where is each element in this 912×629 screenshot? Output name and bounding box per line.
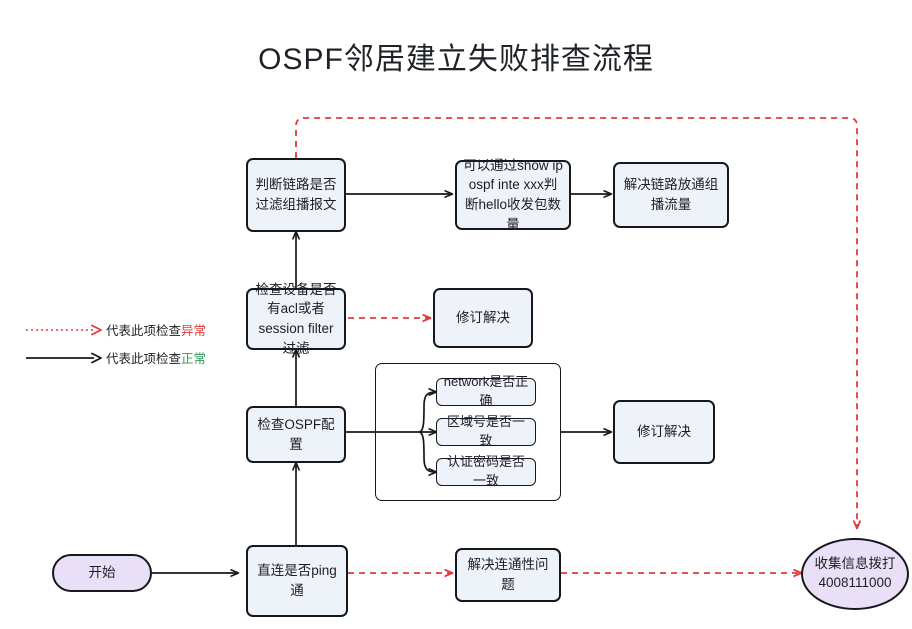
node-fix-config[interactable]: 修订解决 — [613, 400, 715, 464]
node-ospf-config[interactable]: 检查OSPF配置 — [246, 406, 346, 463]
legend-abnormal-arrow-icon — [26, 324, 104, 336]
page-title: OSPF邻居建立失败排查流程 — [0, 34, 912, 78]
legend-abnormal-label: 代表此项检查异常 — [106, 320, 206, 339]
node-network-correct[interactable]: network是否正确 — [436, 378, 536, 406]
collect-info-line-1: 收集信息拨打 — [815, 555, 896, 574]
node-multicast-filter[interactable]: 判断链路是否过滤组播报文 — [246, 158, 346, 232]
legend-abnormal: 代表此项检查异常 — [26, 320, 206, 339]
node-acl-check[interactable]: 检查设备是否有acl或者session filter过滤 — [246, 288, 346, 350]
node-ping[interactable]: 直连是否ping通 — [246, 545, 348, 617]
legend-normal: 代表此项检查正常 — [26, 348, 206, 367]
collect-info-line-2: 4008111000 — [818, 574, 891, 593]
legend-normal-label: 代表此项检查正常 — [106, 348, 206, 367]
node-start[interactable]: 开始 — [52, 554, 152, 592]
node-show-ip-ospf[interactable]: 可以通过show ip ospf inte xxx判断hello收发包数量 — [455, 160, 571, 230]
node-auth-password[interactable]: 认证密码是否一致 — [436, 458, 536, 486]
node-fix-acl[interactable]: 修订解决 — [433, 288, 533, 348]
legend-normal-arrow-icon — [26, 352, 104, 364]
node-connectivity-fix[interactable]: 解决连通性问题 — [455, 548, 561, 602]
flowchart-canvas: OSPF邻居建立失败排查流程 — [0, 0, 912, 629]
node-area-id[interactable]: 区域号是否一致 — [436, 418, 536, 446]
node-allow-multicast[interactable]: 解决链路放通组播流量 — [613, 162, 729, 228]
node-collect-info[interactable]: 收集信息拨打 4008111000 — [801, 538, 909, 610]
